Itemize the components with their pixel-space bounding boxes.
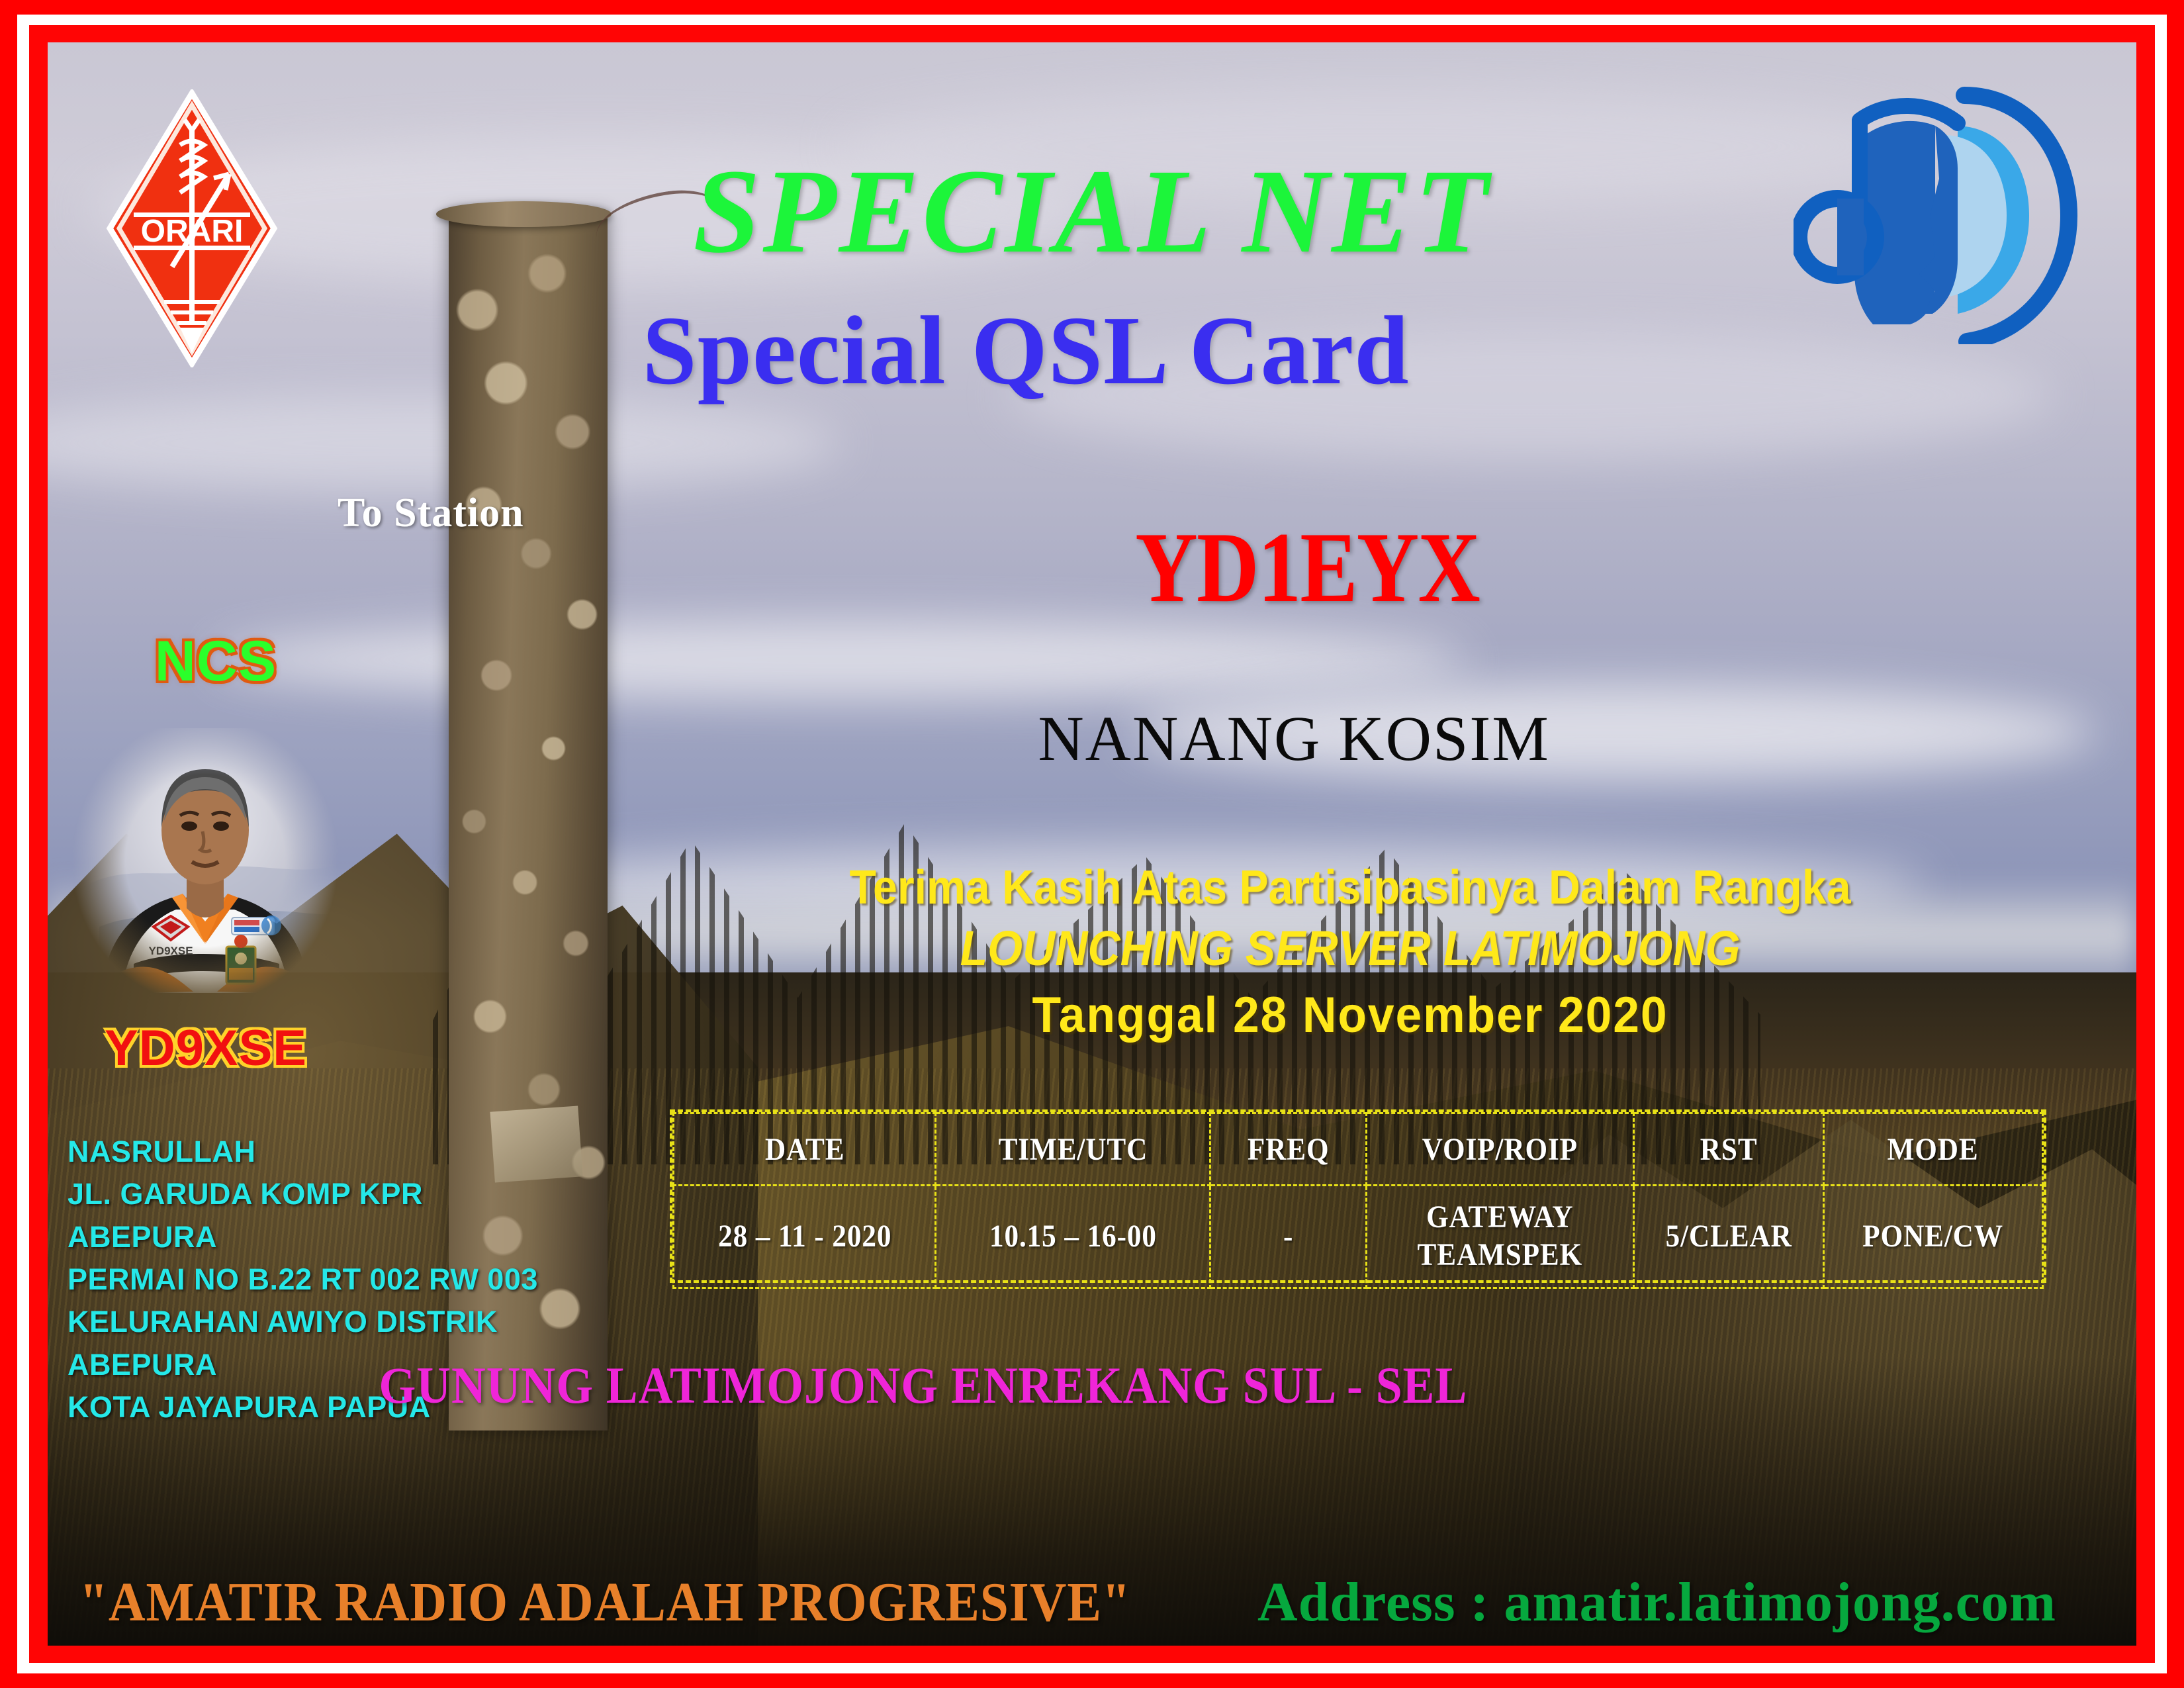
cloud-band — [841, 91, 1927, 203]
cell-rst: 5/CLEAR — [1643, 1186, 1814, 1288]
uniform-patch-right — [232, 915, 281, 935]
address-line: JL. GARUDA KOMP KPR — [68, 1173, 637, 1215]
address-line: PERMAI NO B.22 RT 002 RW 003 — [68, 1258, 637, 1301]
table-header-rst: RST — [1643, 1113, 1814, 1186]
table-header-mode: MODE — [1835, 1113, 2032, 1186]
location-line-text: GUNUNG LATIMOJONG ENREKANG SUL - SEL — [379, 1356, 1468, 1415]
table-header-freq: FREQ — [1218, 1113, 1359, 1186]
event-date-line: Tanggal 28 November 2020 — [728, 986, 1972, 1044]
qsl-card: ORARI SPECIAL NET Special QSL Card To St… — [0, 0, 2184, 1688]
ncs-label: NCS — [123, 629, 308, 694]
table-header-date: DATE — [686, 1113, 923, 1186]
operator-name-text: NANANG KOSIM — [1038, 703, 1549, 774]
address-line: ABEPURA — [68, 1216, 637, 1258]
pillar-cap — [436, 201, 612, 227]
address-line: KELURAHAN AWIYO DISTRIK — [68, 1301, 637, 1343]
cell-voip: GATEWAY TEAMSPEK — [1379, 1186, 1620, 1288]
cell-time: 10.15 – 16-00 — [950, 1186, 1197, 1288]
address-line: NASRULLAH — [68, 1131, 637, 1173]
location-line: GUNUNG LATIMOJONG ENREKANG SUL - SEL — [0, 1356, 1846, 1415]
orari-logo-text: ORARI — [141, 214, 244, 249]
event-line: LOUNCHING SERVER LATIMOJONG — [741, 920, 1959, 976]
motto-text: "AMATIR RADIO ADALAH PROGRESIVE" — [79, 1570, 1131, 1634]
website-address-text: Address : amatir.latimojong.com — [1257, 1570, 2056, 1634]
uniform-callsign-text: YD9XSE — [148, 945, 193, 957]
cell-date: 28 – 11 - 2020 — [686, 1186, 923, 1288]
operator-name: NANANG KOSIM — [880, 702, 1707, 775]
table-header-voip: VOIP/ROIP — [1379, 1113, 1620, 1186]
cell-freq: - — [1218, 1186, 1359, 1288]
station-callsign: YD1EYX — [893, 510, 1721, 625]
cell-voip-line1: GATEWAY — [1381, 1199, 1619, 1237]
table-header-time: TIME/UTC — [950, 1113, 1197, 1186]
qso-table-element: DATE TIME/UTC FREQ VOIP/ROIP RST MODE 28… — [672, 1112, 2044, 1289]
ncs-portrait-illustration: YD9XSE — [73, 728, 338, 993]
table-row: 28 – 11 - 2020 10.15 – 16-00 - GATEWAY T… — [674, 1186, 2043, 1288]
cell-voip-line2: TEAMSPEK — [1381, 1237, 1619, 1274]
cell-mode: PONE/CW — [1835, 1186, 2032, 1288]
to-station-label: To Station — [338, 490, 524, 537]
station-callsign-text: YD1EYX — [1135, 510, 1479, 625]
page-subtitle: Special QSL Card — [0, 295, 2052, 407]
qso-details-table: DATE TIME/UTC FREQ VOIP/ROIP RST MODE 28… — [670, 1109, 2046, 1283]
ncs-callsign: YD9XSE — [64, 1019, 348, 1077]
ncs-operator-photo: YD9XSE — [73, 728, 338, 993]
page-subtitle-text: Special QSL Card — [642, 297, 1409, 405]
thanks-line: Terima Kasih Atas Partisipasinya Dalam R… — [741, 861, 1959, 915]
table-header-row: DATE TIME/UTC FREQ VOIP/ROIP RST MODE — [674, 1113, 2043, 1186]
cloud-band — [214, 620, 1468, 700]
